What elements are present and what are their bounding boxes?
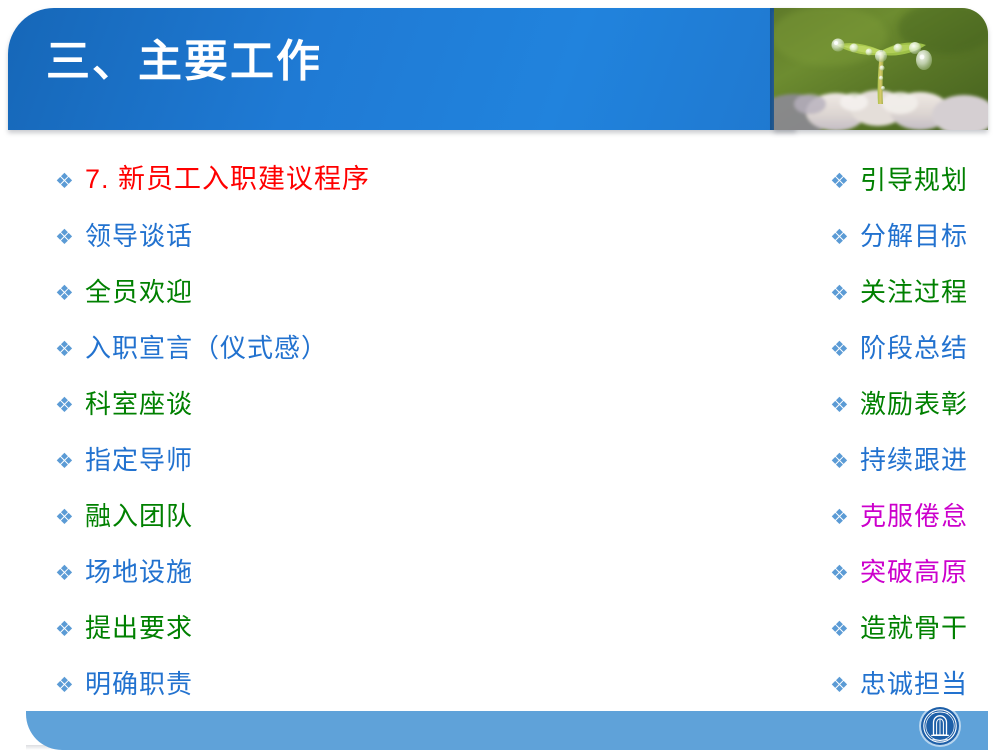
bullet-item-label: 明确职责	[85, 670, 193, 699]
bullet-item-label: 持续跟进	[860, 446, 968, 475]
diamond-bullet-icon: ❖	[830, 561, 860, 584]
bullet-item-label: 入职宣言（仪式感）	[85, 334, 328, 363]
diamond-bullet-icon: ❖	[830, 505, 860, 528]
bullet-item-label: 场地设施	[85, 558, 193, 587]
bullet-item-label: 突破高原	[860, 558, 968, 587]
diamond-bullet-icon: ❖	[55, 449, 85, 472]
bullet-item-label: 科室座谈	[85, 390, 193, 419]
bullet-item-label: 指定导师	[85, 446, 193, 475]
diamond-bullet-icon: ❖	[830, 673, 860, 696]
diamond-bullet-icon: ❖	[55, 617, 85, 640]
bullet-item-label: 阶段总结	[860, 334, 968, 363]
bullet-columns: ❖7. 新员工入职建议程序❖领导谈话❖全员欢迎❖入职宣言（仪式感）❖科室座谈❖指…	[0, 152, 1000, 712]
diamond-bullet-icon: ❖	[55, 225, 85, 248]
diamond-bullet-icon: ❖	[830, 169, 860, 192]
bullet-item-label: 领导谈话	[85, 222, 193, 251]
bullet-item-label: 分解目标	[860, 222, 968, 251]
bullet-item-label: 引导规划	[860, 166, 968, 195]
diamond-bullet-icon: ❖	[55, 169, 85, 192]
bullet-item-label: 激励表彰	[860, 390, 968, 419]
diamond-bullet-icon: ❖	[55, 505, 85, 528]
bullet-item-label: 忠诚担当	[860, 670, 968, 699]
footer-bar	[26, 711, 988, 750]
bullet-item[interactable]: ❖持续跟进	[830, 432, 1000, 488]
diamond-bullet-icon: ❖	[55, 281, 85, 304]
diamond-bullet-icon: ❖	[55, 673, 85, 696]
bullet-item[interactable]: ❖克服倦怠	[830, 488, 1000, 544]
bullet-item-label: 全员欢迎	[85, 278, 193, 307]
seedling-sprout-photo	[774, 8, 988, 130]
diamond-bullet-icon: ❖	[830, 225, 860, 248]
diamond-bullet-icon: ❖	[55, 561, 85, 584]
bullet-item-label: 克服倦怠	[860, 502, 968, 531]
bullet-item-label: 造就骨干	[860, 614, 968, 643]
bullet-item[interactable]: ❖阶段总结	[830, 320, 1000, 376]
bullet-item-label: 融入团队	[85, 502, 193, 531]
bullet-item[interactable]: ❖关注过程	[830, 264, 1000, 320]
bullet-item[interactable]: ❖忠诚担当	[830, 656, 1000, 712]
diamond-bullet-icon: ❖	[830, 393, 860, 416]
bullet-item-label: 关注过程	[860, 278, 968, 307]
bullet-column-right: ❖引导规划❖分解目标❖关注过程❖阶段总结❖激励表彰❖持续跟进❖克服倦怠❖突破高原…	[315, 152, 1000, 712]
bullet-item[interactable]: ❖分解目标	[830, 208, 1000, 264]
bullet-item-label: 提出要求	[85, 614, 193, 643]
bullet-item[interactable]: ❖引导规划	[830, 152, 1000, 208]
diamond-bullet-icon: ❖	[830, 617, 860, 640]
bullet-item[interactable]: ❖造就骨干	[830, 600, 1000, 656]
bullet-item[interactable]: ❖突破高原	[830, 544, 1000, 600]
page-title: 三、主要工作	[46, 40, 322, 84]
diamond-bullet-icon: ❖	[55, 337, 85, 360]
institution-seal-icon	[918, 704, 962, 748]
diamond-bullet-icon: ❖	[830, 281, 860, 304]
diamond-bullet-icon: ❖	[830, 337, 860, 360]
diamond-bullet-icon: ❖	[830, 449, 860, 472]
diamond-bullet-icon: ❖	[55, 393, 85, 416]
bullet-item[interactable]: ❖激励表彰	[830, 376, 1000, 432]
